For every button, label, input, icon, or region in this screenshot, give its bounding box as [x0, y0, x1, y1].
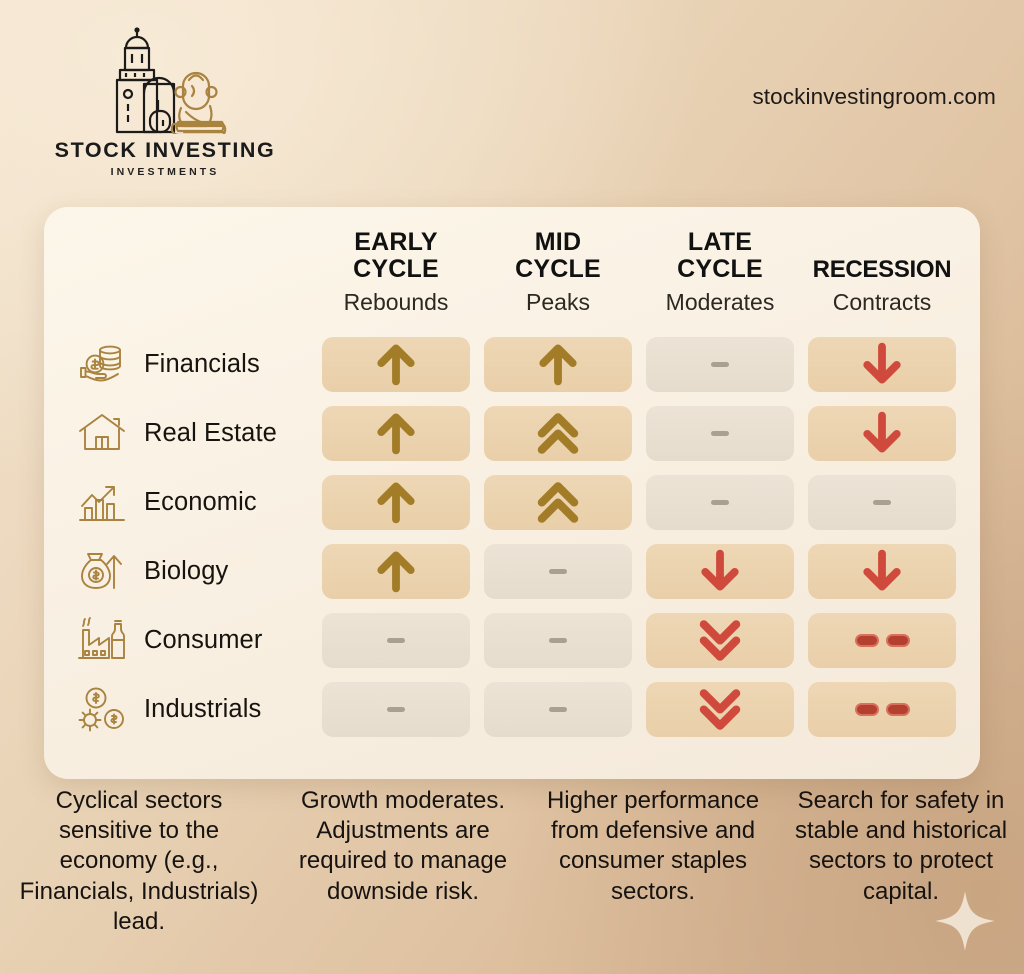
table-row: Biology — [44, 537, 980, 605]
brand-logo: STOCK INVESTING INVESTMENTS — [40, 14, 290, 178]
sector-label: Industrials — [144, 695, 261, 724]
column-title: MID CYCLE — [484, 229, 632, 283]
matrix-cell-wrapper — [484, 682, 632, 737]
column-header-recession: RECESSION Contracts — [808, 257, 956, 316]
matrix-cell-arrow-down-icon[interactable] — [646, 544, 794, 599]
four-point-sparkle-icon — [934, 890, 996, 952]
double-dash-icon — [855, 634, 910, 647]
column-subtitle: Moderates — [646, 289, 794, 316]
matrix-cell-double-dash-icon[interactable] — [808, 613, 956, 668]
matrix-cell-wrapper — [322, 613, 470, 668]
matrix-cell-double-chevron-down-icon[interactable] — [646, 682, 794, 737]
matrix-cell-flat-dash-icon[interactable] — [322, 682, 470, 737]
flat-dash-icon — [873, 500, 891, 505]
matrix-column-headers: EARLY CYCLE Rebounds MID CYCLE Peaks LAT… — [44, 207, 980, 316]
column-title: LATE CYCLE — [646, 229, 794, 283]
matrix-cell-double-chevron-down-icon[interactable] — [646, 613, 794, 668]
sector-label: Real Estate — [144, 419, 277, 448]
matrix-cell-flat-dash-icon[interactable] — [646, 475, 794, 530]
sector-label: Economic — [144, 488, 257, 517]
flat-dash-icon — [549, 707, 567, 712]
matrix-cell-wrapper — [322, 406, 470, 461]
matrix-cell-double-chevron-up-icon[interactable] — [484, 406, 632, 461]
column-subtitle: Peaks — [484, 289, 632, 316]
matrix-cell-flat-dash-icon[interactable] — [646, 406, 794, 461]
matrix-cell-flat-dash-icon[interactable] — [808, 475, 956, 530]
table-row: Financials — [44, 330, 980, 398]
sector-row-header: Biology — [44, 547, 322, 595]
matrix-cell-flat-dash-icon[interactable] — [484, 544, 632, 599]
column-title: EARLY CYCLE — [322, 229, 470, 283]
flat-dash-icon — [711, 362, 729, 367]
flat-dash-icon — [711, 500, 729, 505]
matrix-cell-wrapper — [646, 682, 794, 737]
matrix-cell-arrow-up-icon[interactable] — [322, 544, 470, 599]
matrix-cell-arrow-up-icon[interactable] — [484, 337, 632, 392]
table-row: Economic — [44, 468, 980, 536]
table-row: Real Estate — [44, 399, 980, 467]
column-header-early-cycle: EARLY CYCLE Rebounds — [322, 229, 470, 316]
flat-dash-icon — [549, 638, 567, 643]
factory-bottle-icon — [74, 616, 130, 664]
matrix-cell-wrapper — [646, 544, 794, 599]
column-header-late-cycle: LATE CYCLE Moderates — [646, 229, 794, 316]
matrix-cell-wrapper — [808, 682, 956, 737]
matrix-cell-arrow-down-icon[interactable] — [808, 406, 956, 461]
matrix-cell-flat-dash-icon[interactable] — [322, 613, 470, 668]
matrix-cell-flat-dash-icon[interactable] — [484, 682, 632, 737]
matrix-cell-wrapper — [646, 337, 794, 392]
matrix-cell-arrow-down-icon[interactable] — [808, 544, 956, 599]
matrix-cell-double-dash-icon[interactable] — [808, 682, 956, 737]
coins-gear-icon — [74, 685, 130, 733]
money-bag-arrow-icon — [74, 547, 130, 595]
matrix-cell-flat-dash-icon[interactable] — [484, 613, 632, 668]
matrix-cell-wrapper — [484, 544, 632, 599]
brand-wordmark: STOCK INVESTING — [40, 138, 290, 163]
brand-subwordmark: INVESTMENTS — [40, 166, 290, 178]
matrix-cell-wrapper — [322, 682, 470, 737]
matrix-cell-wrapper — [484, 475, 632, 530]
flat-dash-icon — [387, 638, 405, 643]
flat-dash-icon — [549, 569, 567, 574]
matrix-cell-double-chevron-up-icon[interactable] — [484, 475, 632, 530]
matrix-cell-wrapper — [808, 475, 956, 530]
sector-row-header: Industrials — [44, 685, 322, 733]
hand-with-coins-icon — [74, 340, 130, 388]
matrix-cell-wrapper — [484, 613, 632, 668]
matrix-cell-wrapper — [646, 475, 794, 530]
matrix-cell-arrow-up-icon[interactable] — [322, 406, 470, 461]
table-row: Industrials — [44, 675, 980, 743]
matrix-cell-wrapper — [808, 406, 956, 461]
column-header-mid-cycle: MID CYCLE Peaks — [484, 229, 632, 316]
house-icon — [74, 409, 130, 457]
double-dash-icon — [855, 703, 910, 716]
sector-row-header: Consumer — [44, 616, 322, 664]
footnote-mid-cycle: Growth moderates. Adjustments are requir… — [278, 786, 528, 937]
matrix-cell-wrapper — [808, 613, 956, 668]
matrix-cell-wrapper — [322, 475, 470, 530]
site-url: stockinvestingroom.com — [752, 84, 996, 110]
sector-cycle-matrix-card: EARLY CYCLE Rebounds MID CYCLE Peaks LAT… — [44, 207, 980, 779]
footnote-early-cycle: Cyclical sectors sensitive to the econom… — [0, 786, 278, 937]
sector-label: Biology — [144, 557, 228, 586]
sector-label: Financials — [144, 350, 260, 379]
matrix-cell-wrapper — [322, 337, 470, 392]
footnote-late-cycle: Higher performance from defensive and co… — [528, 786, 778, 937]
column-title: RECESSION — [808, 257, 956, 283]
matrix-cell-wrapper — [646, 406, 794, 461]
matrix-cell-wrapper — [484, 337, 632, 392]
matrix-cell-wrapper — [484, 406, 632, 461]
tower-and-seated-figure-logo-icon — [40, 14, 290, 134]
sector-row-header: Economic — [44, 478, 322, 526]
sector-label: Consumer — [144, 626, 262, 655]
bar-chart-arrow-icon — [74, 478, 130, 526]
matrix-cell-arrow-down-icon[interactable] — [808, 337, 956, 392]
sector-row-header: Real Estate — [44, 409, 322, 457]
matrix-cell-wrapper — [808, 544, 956, 599]
sector-row-header: Financials — [44, 340, 322, 388]
table-row: Consumer — [44, 606, 980, 674]
footnotes: Cyclical sectors sensitive to the econom… — [0, 786, 1024, 937]
column-subtitle: Rebounds — [322, 289, 470, 316]
matrix-cell-wrapper — [808, 337, 956, 392]
matrix-rows: FinancialsReal EstateEconomicBiologyCons… — [44, 330, 980, 743]
matrix-cell-wrapper — [646, 613, 794, 668]
matrix-cell-flat-dash-icon[interactable] — [646, 337, 794, 392]
flat-dash-icon — [387, 707, 405, 712]
matrix-cell-arrow-up-icon[interactable] — [322, 475, 470, 530]
flat-dash-icon — [711, 431, 729, 436]
matrix-cell-wrapper — [322, 544, 470, 599]
header: STOCK INVESTING INVESTMENTS stockinvesti… — [0, 0, 1024, 200]
matrix-cell-arrow-up-icon[interactable] — [322, 337, 470, 392]
column-subtitle: Contracts — [808, 289, 956, 316]
